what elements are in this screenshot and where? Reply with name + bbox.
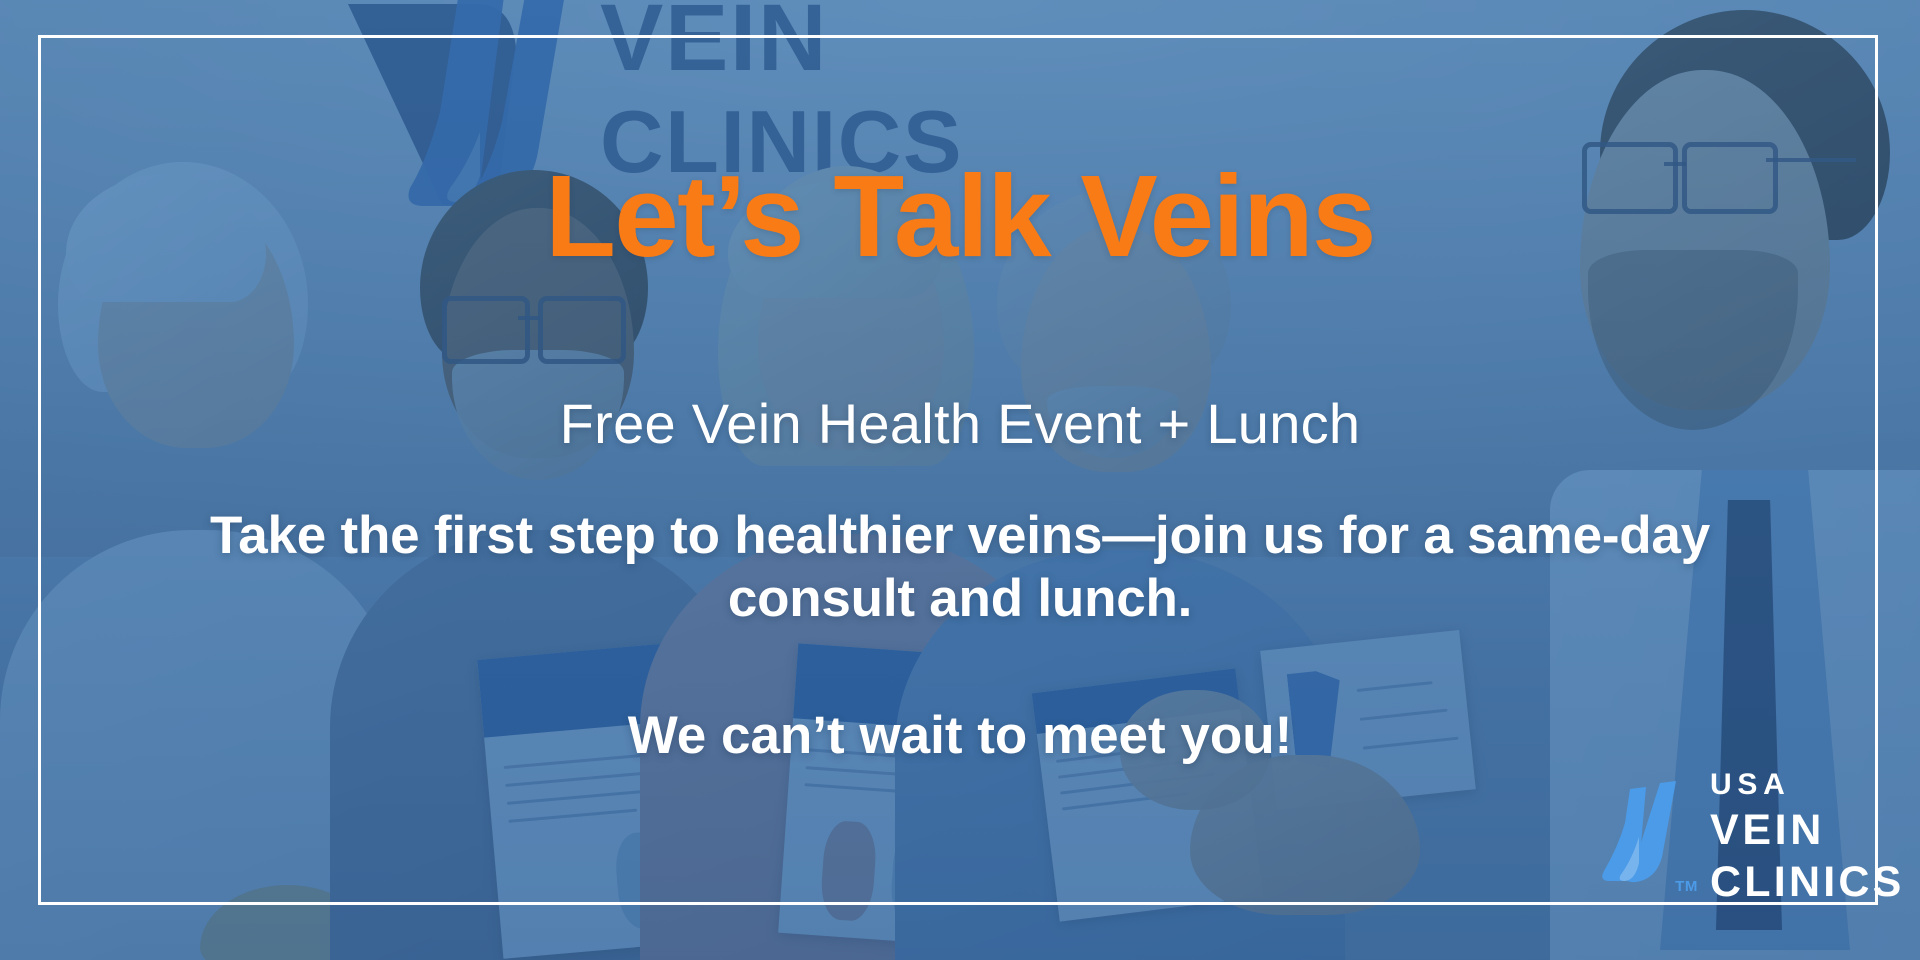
logo-wordmark: USA VEIN CLINICS [1710,770,1905,904]
closing-line: We can’t wait to meet you! [0,705,1920,768]
marketing-banner: VEIN CLINICS [0,0,1920,960]
usa-vein-clinics-logo: TM USA VEIN CLINICS [1596,770,1905,904]
logo-line-usa: USA [1710,770,1905,800]
body-copy: Take the first step to healthier veins—j… [120,505,1800,630]
logo-line-clinics: CLINICS [1710,861,1905,904]
headline: Let’s Talk Veins [0,157,1920,275]
trademark-symbol: TM [1675,878,1698,895]
subheadline: Free Vein Health Event + Lunch [0,395,1920,454]
logo-line-vein: VEIN [1710,809,1905,852]
vein-clinics-logo-icon: TM [1596,775,1692,899]
